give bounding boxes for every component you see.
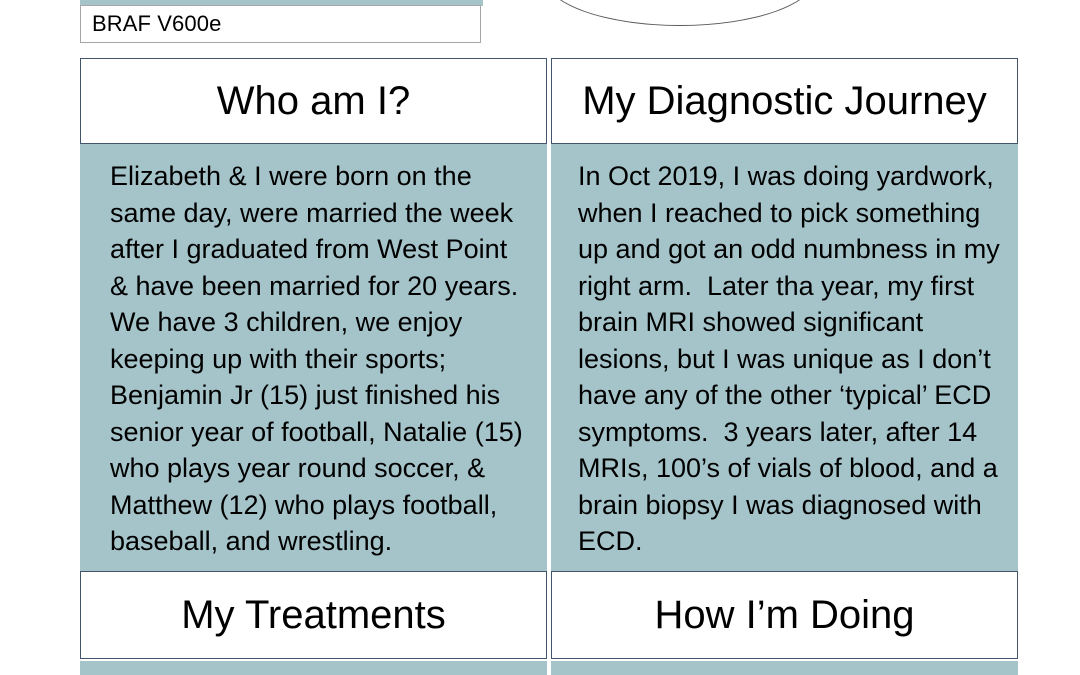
story-table: Who am I? My Diagnostic Journey Elizabet… <box>80 58 1018 659</box>
braf-mutation-textbox[interactable]: BRAF V600e <box>80 5 481 43</box>
section-body-my-diagnostic-journey: In Oct 2019, I was doing yardwork, when … <box>578 158 1002 560</box>
section-title-my-diagnostic-journey: My Diagnostic Journey <box>582 80 987 122</box>
header-cell-who-am-i[interactable]: Who am I? <box>80 58 547 144</box>
header-cell-my-treatments[interactable]: My Treatments <box>80 571 547 659</box>
bottom-body-cell-my-treatments[interactable] <box>80 661 547 675</box>
body-cell-my-diagnostic-journey[interactable]: In Oct 2019, I was doing yardwork, when … <box>551 144 1018 571</box>
bottom-body-cell-how-im-doing[interactable] <box>551 661 1018 675</box>
section-body-who-am-i: Elizabeth & I were born on the same day,… <box>110 158 531 560</box>
header-cell-how-im-doing[interactable]: How I’m Doing <box>551 571 1018 659</box>
table-row-bodies: Elizabeth & I were born on the same day,… <box>80 144 1018 571</box>
table-row-headers-bottom: My Treatments How I’m Doing <box>80 571 1018 659</box>
slide-canvas: BRAF V600e Who am I? My Diagnostic Journ… <box>0 0 1080 675</box>
section-title-my-treatments: My Treatments <box>181 594 446 636</box>
section-title-how-im-doing: How I’m Doing <box>654 594 914 636</box>
body-cell-who-am-i[interactable]: Elizabeth & I were born on the same day,… <box>80 144 547 571</box>
section-title-who-am-i: Who am I? <box>217 80 410 122</box>
table-row-headers-top: Who am I? My Diagnostic Journey <box>80 58 1018 144</box>
braf-mutation-label: BRAF V600e <box>81 13 221 35</box>
header-cell-my-diagnostic-journey[interactable]: My Diagnostic Journey <box>551 58 1018 144</box>
ellipse-shape <box>544 0 816 26</box>
